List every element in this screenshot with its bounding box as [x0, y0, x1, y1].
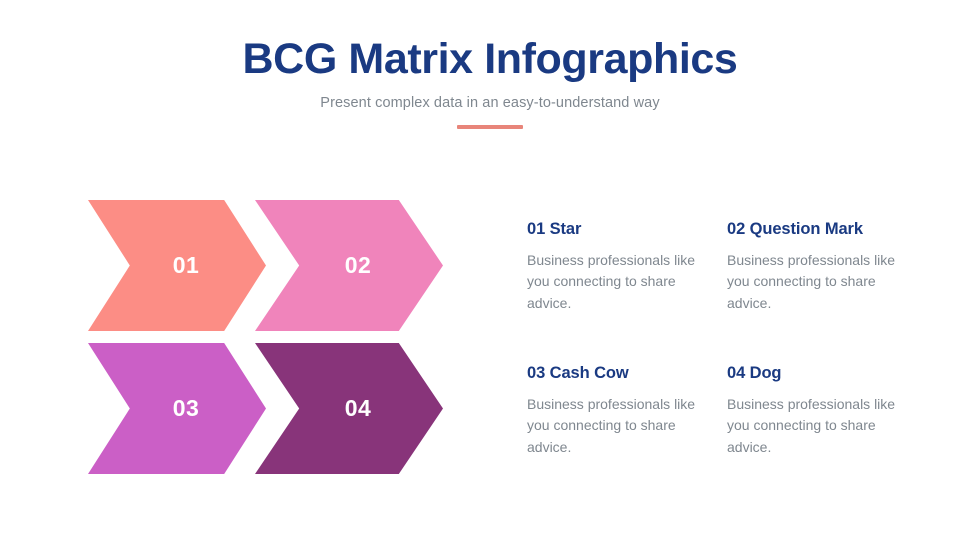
chevron-item-01[interactable]: 01 — [88, 200, 266, 331]
description-title-02: 02 Question Mark — [727, 220, 902, 239]
description-title-04: 04 Dog — [727, 364, 902, 383]
description-body-04: Business professionals like you connecti… — [727, 394, 902, 458]
chevron-number-04: 04 — [345, 395, 372, 422]
description-body-01: Business professionals like you connecti… — [527, 250, 702, 314]
description-block-04: 04 Dog Business professionals like you c… — [727, 364, 902, 458]
chevron-group: 01 02 03 04 — [88, 200, 488, 475]
description-title-03: 03 Cash Cow — [527, 364, 702, 383]
title-divider-accent — [457, 125, 523, 129]
chevron-item-02[interactable]: 02 — [255, 200, 443, 331]
description-block-01: 01 Star Business professionals like you … — [527, 220, 702, 314]
slide-header: BCG Matrix Infographics Present complex … — [0, 36, 980, 129]
chevron-item-03[interactable]: 03 — [88, 343, 266, 474]
description-body-03: Business professionals like you connecti… — [527, 394, 702, 458]
description-block-02: 02 Question Mark Business professionals … — [727, 220, 902, 314]
chevron-item-04[interactable]: 04 — [255, 343, 443, 474]
chevron-number-02: 02 — [345, 252, 372, 279]
page-subtitle: Present complex data in an easy-to-under… — [0, 95, 980, 111]
chevron-number-01: 01 — [173, 252, 200, 279]
slide-canvas: BCG Matrix Infographics Present complex … — [0, 0, 980, 551]
description-block-03: 03 Cash Cow Business professionals like … — [527, 364, 702, 458]
description-body-02: Business professionals like you connecti… — [727, 250, 902, 314]
page-title: BCG Matrix Infographics — [0, 36, 980, 82]
description-title-01: 01 Star — [527, 220, 702, 239]
chevron-number-03: 03 — [173, 395, 200, 422]
